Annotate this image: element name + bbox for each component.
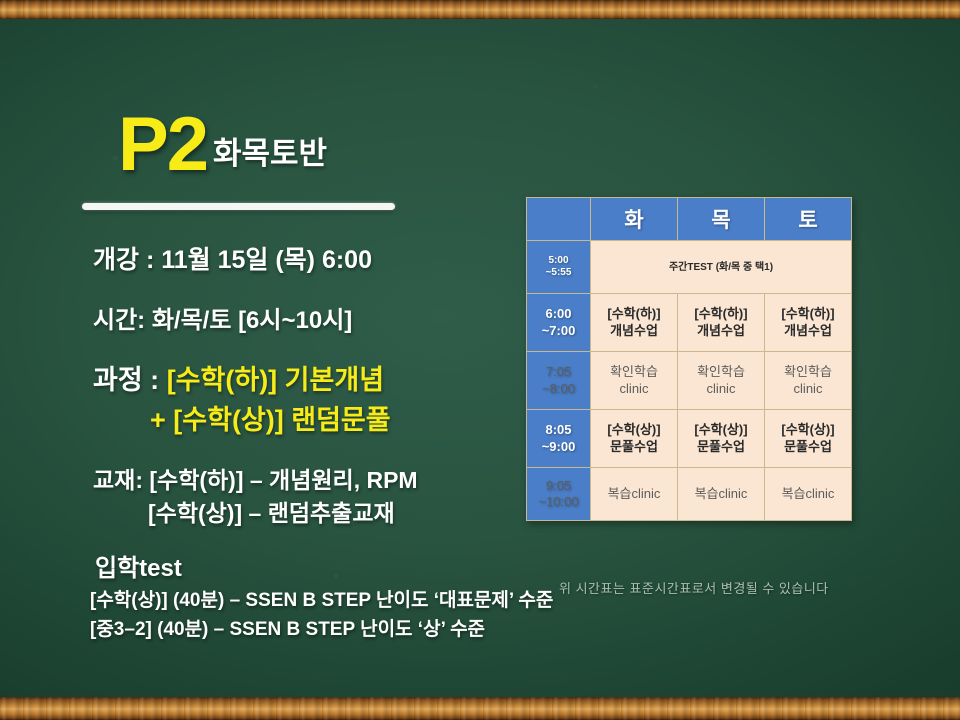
schedule-table-container: 화목토 5:00~5:55주간TEST (화/목 중 택1)6:00~7:00[…	[526, 197, 852, 521]
day-header-1: 화	[591, 198, 678, 241]
schedule-cell-r3-c1: 확인학습clinic	[591, 352, 678, 410]
day-header-2: 목	[678, 198, 765, 241]
day-header-3: 토	[765, 198, 852, 241]
schedule-cell-r4-c2: [수학(상)]문풀수업	[678, 410, 765, 468]
course-highlight-2: + [수학(상)] 랜덤문풀	[150, 398, 391, 437]
chalkboard-frame-top	[0, 0, 960, 19]
page-title: P2 화목토반	[118, 110, 327, 180]
course-prefix-label: 과정 :	[93, 365, 167, 395]
time-slot-3: 7:05~8:00	[527, 352, 591, 410]
entry-test-line-1: [수학(상)] (40분) – SSEN B STEP 난이도 ‘대표문제’ 수…	[90, 585, 553, 612]
schedule-cell-r5-c3: 복습clinic	[765, 468, 852, 521]
course-line-1: 과정 : [수학(하)] 기본개념	[93, 358, 384, 397]
open-date-text: 개강 : 11월 15일 (목) 6:00	[93, 240, 372, 276]
schedule-cell-r4-c1: [수학(상)]문풀수업	[591, 410, 678, 468]
time-slot-2: 6:00~7:00	[527, 294, 591, 352]
schedule-cell-r3-c3: 확인학습clinic	[765, 352, 852, 410]
course-info-panel: P2 화목토반 개강 : 11월 15일 (목) 6:00 시간: 화/목/토 …	[0, 0, 520, 720]
time-slot-5: 9:05~10:00	[527, 468, 591, 521]
slide-canvas: P2 화목토반 개강 : 11월 15일 (목) 6:00 시간: 화/목/토 …	[0, 0, 960, 720]
schedule-cell-r3-c2: 확인학습clinic	[678, 352, 765, 410]
schedule-note: 위 시간표는 표준시간표로서 변경될 수 있습니다	[559, 578, 829, 597]
schedule-row: 6:00~7:00[수학(하)]개념수업[수학(하)]개념수업[수학(하)]개념…	[527, 294, 852, 352]
schedule-row: 7:05~8:00확인학습clinic확인학습clinic확인학습clinic	[527, 352, 852, 410]
schedule-cell-r2-c1: [수학(하)]개념수업	[591, 294, 678, 352]
schedule-table: 화목토 5:00~5:55주간TEST (화/목 중 택1)6:00~7:00[…	[526, 197, 852, 521]
textbook-line-1: 교재: [수학(하)] – 개념원리, RPM	[93, 461, 418, 495]
title-divider	[82, 203, 395, 210]
title-main-text: P2	[118, 110, 207, 180]
schedule-row: 8:05~9:00[수학(상)]문풀수업[수학(상)]문풀수업[수학(상)]문풀…	[527, 410, 852, 468]
table-corner-cell	[527, 198, 591, 241]
schedule-cell-merged: 주간TEST (화/목 중 택1)	[591, 241, 852, 294]
entry-test-title: 입학test	[95, 548, 182, 583]
schedule-table-body: 5:00~5:55주간TEST (화/목 중 택1)6:00~7:00[수학(하…	[527, 241, 852, 521]
class-time-text: 시간: 화/목/토 [6시~10시]	[93, 300, 352, 335]
schedule-row: 5:00~5:55주간TEST (화/목 중 택1)	[527, 241, 852, 294]
schedule-cell-r2-c2: [수학(하)]개념수업	[678, 294, 765, 352]
schedule-row: 9:05~10:00복습clinic복습clinic복습clinic	[527, 468, 852, 521]
textbook-line-2: [수학(상)] – 랜덤추출교재	[148, 494, 395, 528]
schedule-cell-r5-c2: 복습clinic	[678, 468, 765, 521]
schedule-cell-r4-c3: [수학(상)]문풀수업	[765, 410, 852, 468]
schedule-cell-r5-c1: 복습clinic	[591, 468, 678, 521]
course-highlight-1: [수학(하)] 기본개념	[167, 365, 384, 395]
title-subtitle-text: 화목토반	[207, 128, 327, 180]
entry-test-line-2: [중3–2] (40분) – SSEN B STEP 난이도 ‘상’ 수준	[90, 614, 485, 641]
chalkboard-frame-bottom	[0, 697, 960, 720]
time-slot-1: 5:00~5:55	[527, 241, 591, 294]
schedule-cell-r2-c3: [수학(하)]개념수업	[765, 294, 852, 352]
time-slot-4: 8:05~9:00	[527, 410, 591, 468]
table-header-row: 화목토	[527, 198, 852, 241]
